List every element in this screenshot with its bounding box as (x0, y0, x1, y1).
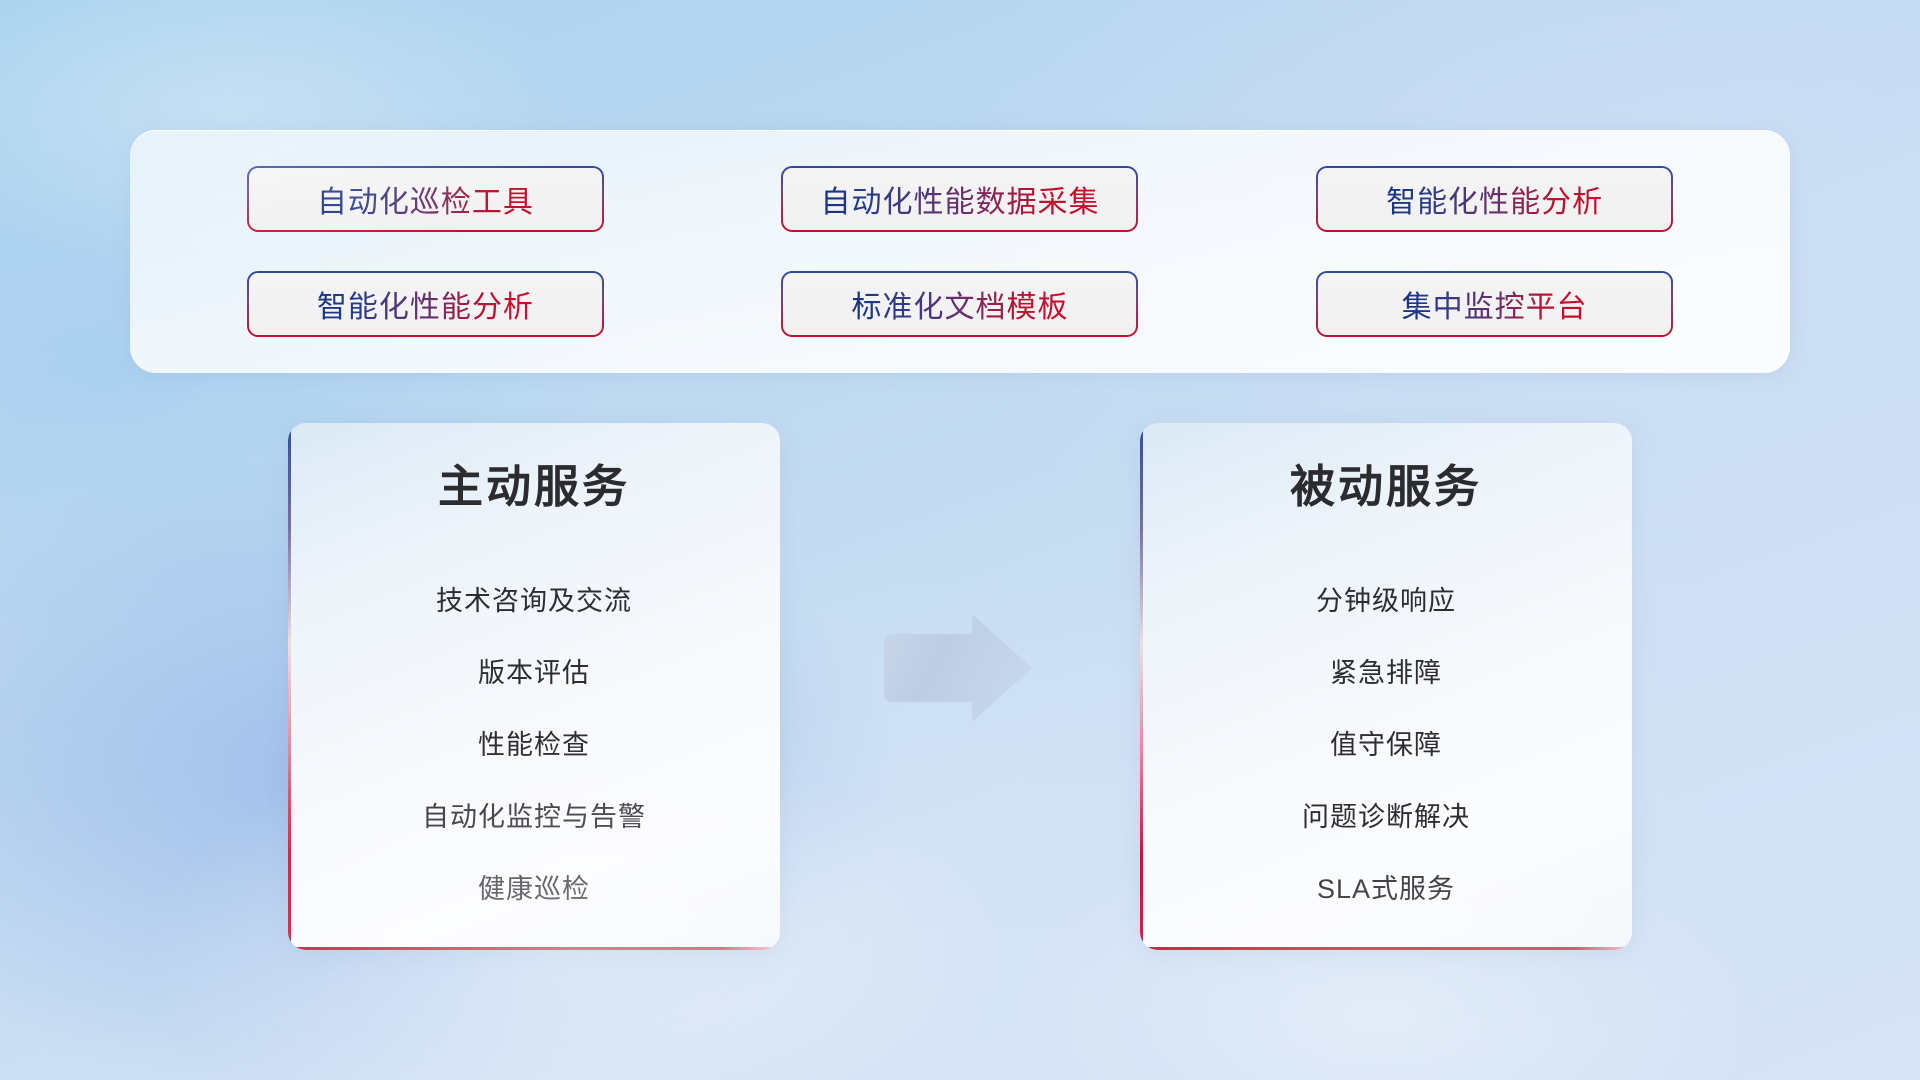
capability-chip-6-inner: 集中监控平台 (1318, 273, 1671, 335)
capability-chip-3[interactable]: 智能化性能分析 (1316, 166, 1673, 232)
service-card-proactive: 主动服务 技术咨询及交流 版本评估 性能检查 自动化监控与告警 健康巡检 (288, 423, 780, 950)
capability-chip-1[interactable]: 自动化巡检工具 (247, 166, 604, 232)
capability-chip-3-inner: 智能化性能分析 (1318, 168, 1671, 230)
service-card-reactive-title: 被动服务 (1290, 461, 1482, 513)
capability-chip-4[interactable]: 智能化性能分析 (247, 271, 604, 337)
capability-panel: 自动化巡检工具 自动化性能数据采集 智能化性能分析 智能化性能分析 标准化文档模… (130, 130, 1790, 373)
list-item: 自动化监控与告警 (422, 781, 646, 853)
list-item: 分钟级响应 (1316, 565, 1456, 637)
list-item: 紧急排障 (1330, 637, 1442, 709)
capability-chip-5-inner: 标准化文档模板 (783, 273, 1136, 335)
diagram-canvas: 自动化巡检工具 自动化性能数据采集 智能化性能分析 智能化性能分析 标准化文档模… (0, 0, 1920, 1080)
list-item: 健康巡检 (478, 853, 590, 925)
service-card-reactive-list: 分钟级响应 紧急排障 值守保障 问题诊断解决 SLA式服务 (1166, 565, 1606, 925)
capability-chip-5[interactable]: 标准化文档模板 (781, 271, 1138, 337)
capability-chip-5-label: 标准化文档模板 (851, 282, 1068, 326)
capability-chip-2-label: 自动化性能数据采集 (820, 177, 1099, 221)
list-item: 性能检查 (478, 709, 590, 781)
service-card-proactive-list: 技术咨询及交流 版本评估 性能检查 自动化监控与告警 健康巡检 (314, 565, 754, 925)
capability-chip-2[interactable]: 自动化性能数据采集 (781, 166, 1138, 232)
list-item: 值守保障 (1330, 709, 1442, 781)
service-card-reactive: 被动服务 分钟级响应 紧急排障 值守保障 问题诊断解决 SLA式服务 (1140, 423, 1632, 950)
capability-chip-6-label: 集中监控平台 (1402, 282, 1588, 326)
capability-chip-6[interactable]: 集中监控平台 (1316, 271, 1673, 337)
list-item: 版本评估 (478, 637, 590, 709)
capability-chip-4-label: 智能化性能分析 (317, 282, 534, 326)
capability-chip-4-inner: 智能化性能分析 (249, 273, 602, 335)
list-item: SLA式服务 (1317, 853, 1455, 925)
arrow-right-icon (876, 612, 1036, 724)
list-item: 技术咨询及交流 (436, 565, 632, 637)
list-item: 问题诊断解决 (1302, 781, 1470, 853)
capability-chip-3-label: 智能化性能分析 (1386, 177, 1603, 221)
capability-chip-1-inner: 自动化巡检工具 (249, 168, 602, 230)
capability-chip-2-inner: 自动化性能数据采集 (783, 168, 1136, 230)
service-card-proactive-title: 主动服务 (438, 461, 630, 513)
capability-chip-1-label: 自动化巡检工具 (317, 177, 534, 221)
